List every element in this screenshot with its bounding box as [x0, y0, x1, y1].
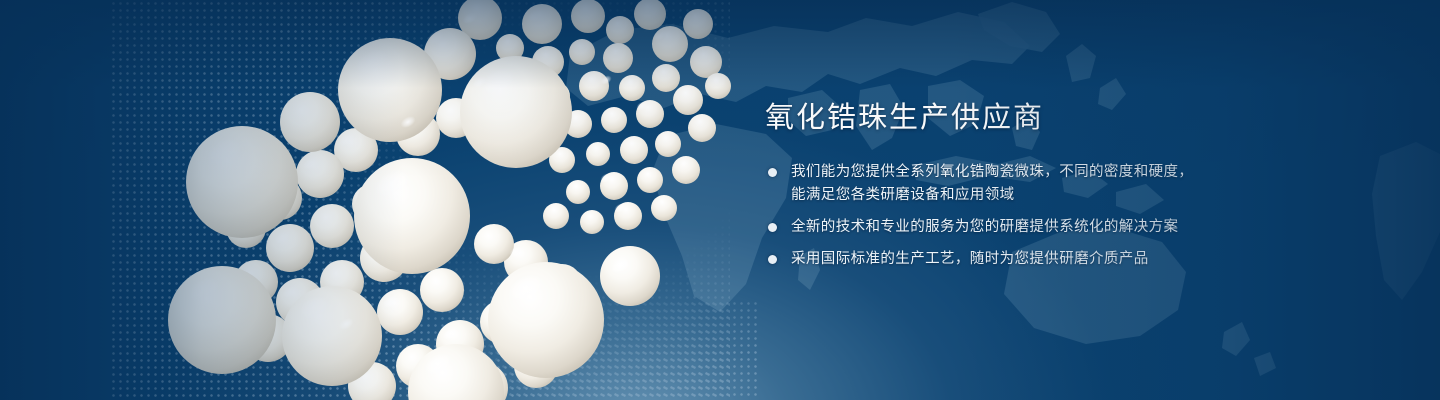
hero-banner: 氧化锆珠生产供应商 我们能为您提供全系列氧化锆陶瓷微珠，不同的密度和硬度， 能满… [0, 0, 1440, 400]
background-vignette [0, 0, 1440, 400]
